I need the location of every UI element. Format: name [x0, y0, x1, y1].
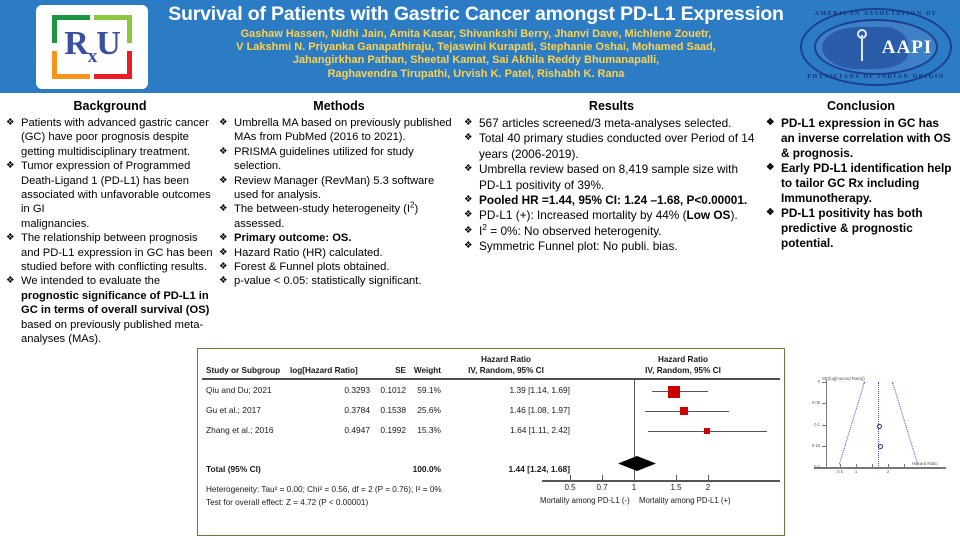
bullet-marker-icon: ❖ [464, 208, 473, 222]
funnel-y-tick-label: 0.15 [802, 443, 820, 448]
bullet-marker-icon: ❖ [464, 193, 473, 207]
list-item-text: PD-L1 (+): Increased mortality by 44% (L… [479, 208, 759, 223]
list-item-text: Forest & Funnel plots obtained. [234, 260, 459, 274]
axis-tick-label: 1.5 [666, 483, 686, 492]
list-item-text: The between-study heterogeneity (I2) ass… [234, 202, 459, 231]
cell-study: Zhang et al.; 2016 [206, 425, 274, 435]
list-item-text: Review Manager (RevMan) 5.3 software use… [234, 174, 459, 203]
emphasis-text: Low OS [687, 208, 731, 222]
axis-tick-label: 0.7 [592, 483, 612, 492]
list-item-text: Primary outcome: OS. [234, 231, 459, 245]
author-list: Gashaw Hassen, Nidhi Jain, Amita Kasar, … [152, 28, 800, 81]
list-item: ❖ Total 40 primary studies conducted ove… [464, 131, 759, 162]
funnel-x-tick-label: 0.5 [834, 469, 846, 474]
table-row: Zhang et al.; 2016 0.4947 0.1992 15.3% 1… [198, 425, 578, 439]
bullet-marker-icon: ❖ [219, 145, 228, 159]
list-item: ❖ Review Manager (RevMan) 5.3 software u… [219, 174, 459, 203]
effect-marker [668, 386, 680, 398]
column-header-se: SE [380, 366, 406, 375]
author-line: Gashaw Hassen, Nidhi Jain, Amita Kasar, … [152, 28, 800, 41]
funnel-x-tick [904, 464, 905, 469]
page-title: Survival of Patients with Gastric Cancer… [152, 2, 800, 26]
funnel-y-axis-line [826, 380, 827, 468]
bullet-marker-icon: ❖ [6, 274, 15, 288]
list-item-text: Symmetric Funnel plot: No publi. bias. [479, 239, 759, 254]
table-row: Gu et al.; 2017 0.3784 0.1538 25.6% 1.46… [198, 405, 578, 419]
section-background: Background ❖ Patients with advanced gast… [6, 99, 214, 347]
list-item-text: 567 articles screened/3 meta-analyses se… [479, 116, 759, 131]
list-item: ❖ Umbrella review based on 8,419 sample … [464, 162, 759, 193]
cell-se: 0.1992 [372, 425, 406, 435]
axis-right-label: Mortality among PD-L1 (+) [639, 496, 731, 505]
list-item: ❖ 567 articles screened/3 meta-analyses … [464, 116, 759, 131]
list-item-text: Hazard Ratio (HR) calculated. [234, 246, 459, 260]
forest-left-subtitle: IV, Random, 95% CI [436, 366, 576, 375]
emphasis-text: prognostic significance of PD-L1 in GC i… [21, 290, 209, 316]
funnel-y-tick [822, 425, 827, 426]
bullet-marker-icon: ❖ [219, 116, 228, 130]
methods-bullets: ❖ Umbrella MA based on previously publis… [219, 116, 459, 289]
x-axis-line [542, 480, 780, 482]
list-item-text: p-value < 0.05: statistically significan… [234, 274, 459, 288]
axis-tick [634, 475, 635, 481]
list-item-text: Tumor expression of Programmed Death-Lig… [21, 159, 214, 217]
lead-text: The between-study heterogeneity (I [234, 203, 410, 215]
forest-plot-figure: Hazard Ratio IV, Random, 95% CI Hazard R… [197, 348, 785, 536]
list-item: ❖ p-value < 0.05: statistically signific… [219, 274, 459, 288]
list-item: ❖ Symmetric Funnel plot: No publi. bias. [464, 239, 759, 254]
axis-tick-label: 0.5 [560, 483, 580, 492]
bullet-marker-icon: ❖ [219, 231, 228, 245]
overall-effect-text: Test for overall effect: Z = 4.72 (P < 0… [206, 498, 368, 507]
heterogeneity-text: Heterogeneity: Tau² = 0.00; Chi² = 0.56,… [206, 485, 442, 494]
column-header-study: Study or Subgroup [206, 366, 280, 375]
table-row: Qiu and Du; 2021 0.3293 0.1012 59.1% 1.3… [198, 385, 578, 399]
list-item: ❖ The between-study heterogeneity (I2) a… [219, 202, 459, 231]
bullet-marker-icon: ❖ [464, 239, 473, 253]
funnel-x-tick [872, 464, 873, 469]
cell-loghr: 0.3293 [308, 385, 370, 395]
bullet-marker-icon: ❖ [219, 274, 228, 288]
seal-arc-top-text: AMERICAN ASSOCIATION OF [800, 11, 952, 17]
list-item-text: We intended to evaluate the prognostic s… [21, 274, 214, 346]
cell-weight: 59.1% [407, 385, 441, 395]
cell-loghr: 0.4947 [308, 425, 370, 435]
cell-se: 0.1538 [372, 405, 406, 415]
logo-letter-x: x [88, 46, 97, 67]
list-item-text: Total 40 primary studies conducted over … [479, 131, 759, 162]
axis-tick [570, 475, 571, 481]
list-item-continuation: malignancies. [6, 217, 214, 231]
tail-text: ). [730, 208, 737, 222]
list-item: ❖ The relationship between prognosis and… [6, 231, 214, 274]
funnel-y-tick-label: 0.05 [802, 400, 820, 405]
funnel-y-tick [822, 467, 827, 468]
tail-text: based on previously published meta-analy… [21, 319, 203, 345]
funnel-edge-left [839, 382, 865, 465]
axis-tick-label: 1 [624, 483, 644, 492]
pooled-effect-diamond [618, 456, 656, 471]
funnel-x-tick-label: 2 [882, 469, 894, 474]
funnel-plot-figure: SE(log[Hazard Ratio]) 0 0.05 0.1 0.15 0.… [800, 368, 952, 498]
cell-study: Gu et al.; 2017 [206, 405, 261, 415]
bullet-marker-icon: ❖ [464, 162, 473, 176]
list-item: ❖ PD-L1 positivity has both predictive &… [766, 206, 956, 251]
list-item: ❖ Hazard Ratio (HR) calculated. [219, 246, 459, 260]
lead-text: We intended to evaluate the [21, 275, 160, 287]
cell-study: Qiu and Du; 2021 [206, 385, 272, 395]
list-item-text: Umbrella review based on 8,419 sample si… [479, 162, 759, 193]
poster-header: RxU Survival of Patients with Gastric Ca… [0, 0, 960, 93]
forest-right-subtitle: IV, Random, 95% CI [588, 366, 778, 375]
bullet-marker-icon: ❖ [6, 231, 15, 245]
axis-tick-label: 2 [698, 483, 718, 492]
list-item: ❖ Forest & Funnel plots obtained. [219, 260, 459, 274]
list-item: ❖ PD-L1 expression in GC has an inverse … [766, 116, 956, 161]
conclusion-bullets: ❖ PD-L1 expression in GC has an inverse … [766, 116, 956, 251]
bullet-marker-icon: ❖ [464, 116, 473, 130]
conclusion-heading: Conclusion [766, 99, 956, 114]
list-item-text: I2 = 0%: No observed heterogenity. [479, 224, 759, 239]
list-item-text: Umbrella MA based on previously publishe… [234, 116, 459, 145]
list-item: ❖ We intended to evaluate the prognostic… [6, 274, 214, 346]
funnel-y-tick [822, 403, 827, 404]
forest-left-title: Hazard Ratio [436, 355, 576, 364]
forest-right-title: Hazard Ratio [588, 355, 778, 364]
list-item-text: malignancies. [21, 217, 214, 231]
funnel-y-tick [822, 382, 827, 383]
funnel-data-point [877, 424, 882, 429]
seal-abbrev-text: AAPI [878, 37, 936, 59]
section-results: Results ❖ 567 articles screened/3 meta-a… [464, 99, 759, 255]
list-item-text: PD-L1 positivity has both predictive & p… [781, 206, 956, 251]
author-line: Jahangirkhan Pathan, Sheetal Kamat, Sai … [152, 54, 800, 67]
cell-weight: 15.3% [407, 425, 441, 435]
list-item-text: Early PD-L1 identification help to tailo… [781, 161, 956, 206]
ci-whisker [652, 391, 708, 392]
methods-heading: Methods [219, 99, 459, 114]
axis-tick [602, 475, 603, 481]
caduceus-icon [856, 29, 868, 63]
author-line: V Lakshmi N. Priyanka Ganapathiraju, Tej… [152, 41, 800, 54]
axis-tick [708, 475, 709, 481]
funnel-y-tick-label: 0 [802, 379, 820, 384]
logo-letter-r: R [64, 25, 88, 62]
forest-graph-area: 0.5 0.7 1 1.5 2 Mortality among PD-L1 (-… [528, 378, 780, 533]
axis-left-label: Mortality among PD-L1 (-) [540, 496, 630, 505]
axis-tick [676, 475, 677, 481]
column-header-weight: Weight [407, 366, 441, 375]
bullet-marker-icon: ❖ [464, 224, 473, 238]
funnel-y-tick-label: 0.1 [802, 422, 820, 427]
list-item: ❖ I2 = 0%: No observed heterogenity. [464, 224, 759, 239]
section-methods: Methods ❖ Umbrella MA based on previousl… [219, 99, 459, 289]
list-item-text: The relationship between prognosis and P… [21, 231, 214, 274]
funnel-y-tick [822, 446, 827, 447]
section-conclusion: Conclusion ❖ PD-L1 expression in GC has … [766, 99, 956, 251]
list-item: ❖ Pooled HR =1.44, 95% CI: 1.24 –1.68, P… [464, 193, 759, 208]
column-header-loghr: log[Hazard Ratio] [290, 366, 358, 375]
tail-text: = 0%: No observed heterogenity. [487, 224, 662, 238]
funnel-y-axis-label: SE(log[Hazard Ratio]) [822, 376, 865, 381]
primary-outcome-text: Primary outcome: OS. [234, 232, 352, 244]
cell-weight: 25.6% [407, 405, 441, 415]
bullet-marker-icon: ❖ [219, 260, 228, 274]
aapi-seal-logo: AMERICAN ASSOCIATION OF PHYSICIANS OF IN… [800, 8, 952, 86]
cell-total-weight: 100.0% [407, 464, 441, 474]
list-item-text: PD-L1 expression in GC has an inverse co… [781, 116, 956, 161]
list-item: ❖ PD-L1 (+): Increased mortality by 44% … [464, 208, 759, 223]
bullet-marker-icon: ❖ [766, 206, 775, 220]
funnel-edge-right [892, 382, 918, 465]
logo-letter-u: U [96, 25, 120, 62]
cell-loghr: 0.3784 [308, 405, 370, 415]
bullet-marker-icon: ❖ [6, 116, 15, 130]
author-line: Raghavendra Tirupathi, Urvish K. Patel, … [152, 68, 800, 81]
list-item: ❖ Tumor expression of Programmed Death-L… [6, 159, 214, 217]
rxu-logo: RxU [36, 5, 148, 89]
bullet-marker-icon: ❖ [766, 116, 775, 130]
results-heading: Results [464, 99, 759, 114]
background-bullets: ❖ Patients with advanced gastric cancer … [6, 116, 214, 347]
list-item: ❖ Umbrella MA based on previously publis… [219, 116, 459, 145]
funnel-x-tick-label: 1 [850, 469, 862, 474]
cell-se: 0.1012 [372, 385, 406, 395]
cell-total-label: Total (95% CI) [206, 464, 261, 474]
funnel-y-tick-label: 0.2 [802, 464, 820, 469]
table-row-total: Total (95% CI) 100.0% 1.44 [1.24, 1.68] [198, 464, 578, 478]
results-bullets: ❖ 567 articles screened/3 meta-analyses … [464, 116, 759, 255]
list-item-text: PRISMA guidelines utilized for study sel… [234, 145, 459, 174]
effect-marker [680, 407, 688, 415]
bullet-marker-icon: ❖ [766, 161, 775, 175]
list-item: ❖ PRISMA guidelines utilized for study s… [219, 145, 459, 174]
list-item: ❖ Early PD-L1 identification help to tai… [766, 161, 956, 206]
pooled-hr-text: Pooled HR =1.44, 95% CI: 1.24 –1.68, P<0… [479, 193, 747, 207]
bullet-marker-icon: ❖ [219, 174, 228, 188]
bullet-marker-icon: ❖ [219, 246, 228, 260]
list-item: ❖ Primary outcome: OS. [219, 231, 459, 245]
lead-text: PD-L1 (+): Increased mortality by 44% ( [479, 208, 687, 222]
header-inner: RxU Survival of Patients with Gastric Ca… [0, 0, 960, 93]
seal-inner-disc: AAPI [814, 19, 938, 75]
funnel-data-point [878, 444, 883, 449]
bullet-marker-icon: ❖ [464, 131, 473, 145]
list-item-text: Pooled HR =1.44, 95% CI: 1.24 –1.68, P<0… [479, 193, 759, 208]
bullet-marker-icon: ❖ [6, 159, 15, 173]
background-heading: Background [6, 99, 214, 114]
title-block: Survival of Patients with Gastric Cancer… [152, 2, 800, 81]
logo-wordmark: RxU [36, 25, 148, 68]
bullet-marker-icon: ❖ [219, 202, 228, 216]
list-item-text: Patients with advanced gastric cancer (G… [21, 116, 214, 159]
effect-marker [704, 428, 710, 434]
list-item: ❖ Patients with advanced gastric cancer … [6, 116, 214, 159]
